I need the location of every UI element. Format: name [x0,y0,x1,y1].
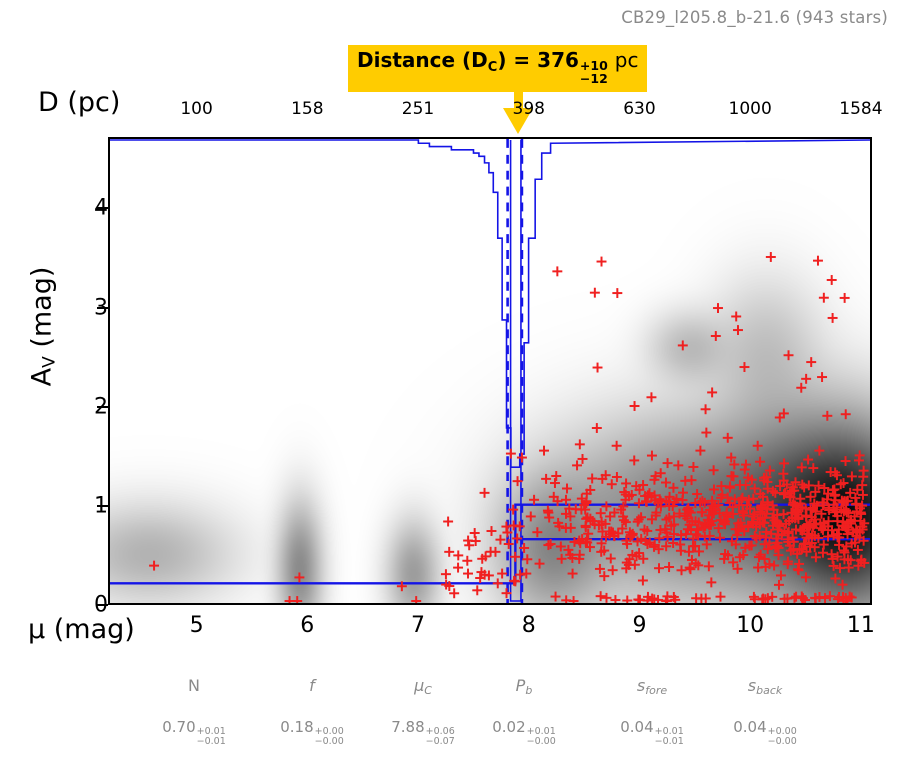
bottom-tick-label-5: 5 [190,613,204,638]
param-symbol: N [188,676,200,695]
param-subscript: b [525,684,532,697]
param-value-2: 7.88+0.06−0.07 [391,718,455,747]
bottom-tick-label-8: 8 [522,613,536,638]
param-value-uncertainty: +0.06−0.07 [426,727,455,747]
top-tick-label-1000: 1000 [729,99,772,119]
param-value-4: 0.04+0.01−0.01 [620,718,684,747]
param-value-main: 0.18 [280,718,313,736]
param-value-uncertainty: +0.00−0.00 [315,727,344,747]
param-name-4: sfore [637,676,667,697]
param-name-1: f [309,676,315,695]
bottom-axis-label: μ (mag) [28,614,135,645]
param-name-0: N [188,676,200,695]
left-axis-label-sub: V [40,356,60,368]
param-value-main: 0.02 [492,718,525,736]
figure-title: CB29_l205.8_b-21.6 (943 stars) [621,8,888,27]
param-value-lower: −0.00 [768,737,797,747]
extinction-distance-plot [108,137,872,605]
left-axis-label-unit: (mag) [27,267,58,357]
param-value-uncertainty: +0.01−0.00 [527,727,556,747]
distance-lower: −12 [580,73,608,86]
distance-callout: Distance (DC) = 376+10−12 pc [348,45,647,92]
param-symbol: f [309,676,315,695]
param-value-lower: −0.07 [426,737,455,747]
top-tick-label-398: 398 [513,99,545,119]
param-value-main: 0.04 [733,718,766,736]
left-axis-label: AV (mag) [27,227,60,427]
param-value-lower: −0.01 [655,737,684,747]
top-tick-label-100: 100 [180,99,212,119]
left-tick-mark [97,207,108,209]
param-value-main: 7.88 [391,718,424,736]
left-tick-mark [97,505,108,507]
top-tick-label-158: 158 [291,99,323,119]
param-value-main: 0.70 [162,718,195,736]
top-tick-label-251: 251 [402,99,434,119]
param-subscript: fore [645,684,667,697]
param-value-uncertainty: +0.01−0.01 [197,727,226,747]
distance-subscript: C [488,60,498,75]
top-axis-label: D (pc) [38,87,120,118]
bottom-tick-label-10: 10 [736,613,764,638]
bottom-tick-label-7: 7 [411,613,425,638]
param-symbol: P [516,676,526,695]
param-value-lower: −0.01 [197,737,226,747]
left-tick-mark [97,406,108,408]
top-tick-label-1584: 1584 [839,99,882,119]
left-tick-mark [97,307,108,309]
param-name-5: sback [748,676,783,697]
param-value-main: 0.04 [620,718,653,736]
left-axis-label-main: A [27,368,58,386]
param-name-3: Pb [516,676,533,697]
param-subscript: C [424,684,432,697]
distance-uncertainty: +10−12 [580,60,608,86]
param-value-5: 0.04+0.00−0.00 [733,718,797,747]
distance-prefix: Distance (D [357,48,488,72]
distance-value: ) = 376 [497,48,579,72]
plot-overlay [110,139,870,603]
posterior-histogram [110,140,870,467]
param-symbol: μ [414,676,424,695]
param-value-uncertainty: +0.01−0.01 [655,727,684,747]
param-value-lower: −0.00 [315,737,344,747]
left-tick-mark [97,604,108,606]
param-value-3: 0.02+0.01−0.00 [492,718,556,747]
param-subscript: back [756,684,782,697]
distance-unit: pc [615,48,639,72]
param-value-0: 0.70+0.01−0.01 [162,718,226,747]
top-tick-label-630: 630 [623,99,655,119]
bottom-tick-label-11: 11 [847,613,875,638]
param-name-2: μC [414,676,432,697]
bottom-tick-label-9: 9 [632,613,646,638]
bottom-tick-label-6: 6 [300,613,314,638]
param-value-lower: −0.00 [527,737,556,747]
param-value-1: 0.18+0.00−0.00 [280,718,344,747]
figure-canvas: CB29_l205.8_b-21.6 (943 stars) Distance … [0,0,902,759]
param-value-uncertainty: +0.00−0.00 [768,727,797,747]
